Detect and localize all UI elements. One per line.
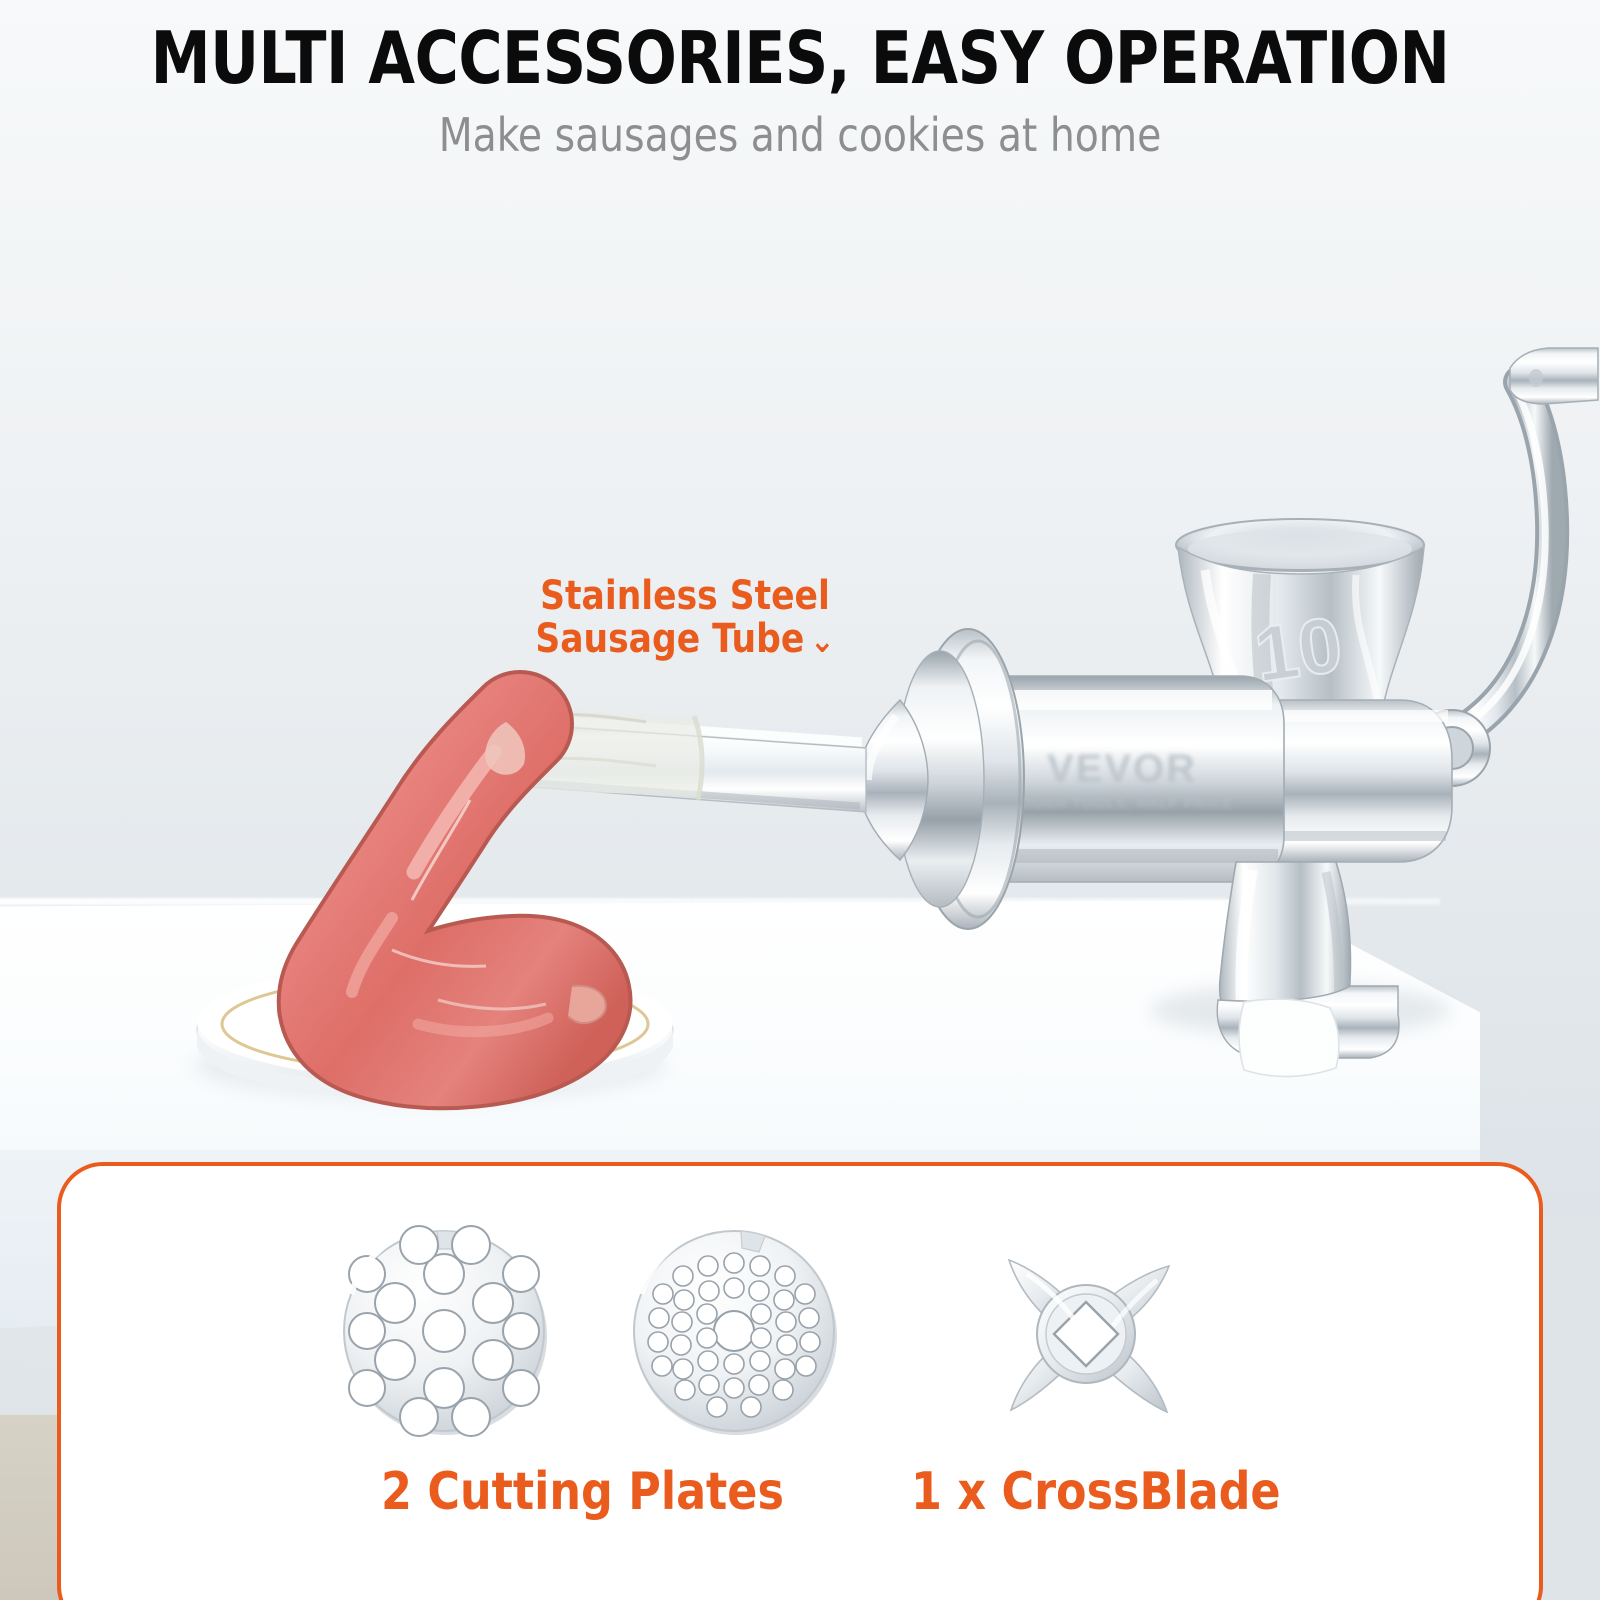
callout-sausage-tube: Stainless Steel Sausage Tube⌄ bbox=[527, 575, 844, 661]
label-cross-blade: 1 x CrossBlade bbox=[911, 1466, 1281, 1518]
accessories-row bbox=[61, 1214, 1547, 1464]
label-cutting-plates: 2 Cutting Plates bbox=[381, 1466, 784, 1518]
page-title: MULTI ACCESSORIES, EASY OPERATION bbox=[56, 22, 1544, 94]
accessory-labels: 2 Cutting Plates 1 x CrossBlade bbox=[61, 1466, 1547, 1556]
cutting-plate-fine-icon bbox=[619, 1214, 849, 1449]
cutting-plate-coarse-icon bbox=[329, 1214, 559, 1449]
header-block: MULTI ACCESSORIES, EASY OPERATION Make s… bbox=[0, 22, 1600, 158]
table-highlight bbox=[0, 898, 1440, 905]
chevron-down-icon: ⌄ bbox=[810, 624, 835, 658]
callout-line-2: Sausage Tube bbox=[535, 616, 804, 662]
product-marketing-image: 10 VEVOR TOUGH TOOLS, HALF PRICE bbox=[0, 0, 1600, 1600]
cross-blade-icon bbox=[961, 1214, 1211, 1459]
accessories-panel: 2 Cutting Plates 1 x CrossBlade bbox=[57, 1162, 1543, 1600]
page-subtitle: Make sausages and cookies at home bbox=[40, 112, 1560, 158]
callout-line-1: Stainless Steel bbox=[527, 575, 844, 618]
callout-line-2-wrap: Sausage Tube⌄ bbox=[527, 618, 844, 661]
